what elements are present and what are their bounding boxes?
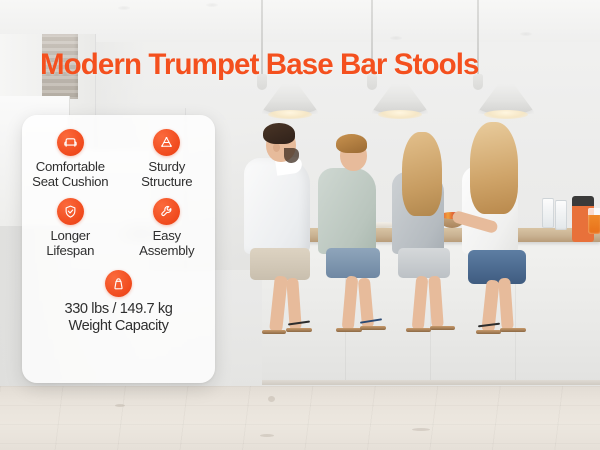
feature-label: Longer Lifespan [46, 229, 94, 258]
water-glass [542, 198, 554, 228]
feature-easy-assembly: Easy Assembly [119, 198, 216, 258]
beard [284, 148, 299, 163]
sandal [430, 326, 455, 330]
ceiling-fixture-dot [118, 6, 130, 10]
sandal [406, 328, 431, 332]
weight-icon [105, 270, 132, 297]
lamp-glow [484, 110, 528, 119]
ceiling-fixture-dot [390, 36, 402, 40]
feature-label: Comfortable Seat Cushion [32, 160, 108, 189]
hair [470, 122, 518, 214]
feature-weight-capacity: 330 lbs / 149.7 kg Weight Capacity [22, 270, 215, 333]
shield-check-icon [57, 198, 84, 225]
feature-label: Sturdy Structure [141, 160, 192, 189]
sandal [262, 330, 286, 334]
hair [263, 123, 295, 144]
counter-baseboard [262, 380, 600, 385]
triangle-structure-icon [153, 129, 180, 156]
sandal [500, 328, 526, 332]
lamp-glow [378, 110, 422, 119]
feature-grid: Comfortable Seat Cushion Sturdy Structur… [22, 129, 215, 334]
feature-sturdy-structure: Sturdy Structure [119, 129, 216, 189]
water-glass [555, 200, 567, 230]
wood-floor [0, 386, 600, 450]
ceiling-fixture-dot [206, 3, 218, 7]
shorts [398, 248, 450, 278]
juice-glass [588, 208, 600, 234]
armchair-icon [57, 129, 84, 156]
feature-label: 330 lbs / 149.7 kg Weight Capacity [64, 301, 172, 333]
wrench-icon [153, 198, 180, 225]
floor-grain [412, 428, 430, 431]
floor-grain [115, 404, 125, 407]
feature-label: Easy Assembly [139, 229, 194, 258]
hair [336, 134, 367, 153]
floor-grain [260, 434, 274, 437]
hair [402, 132, 442, 216]
ear [273, 143, 280, 152]
sandal [476, 330, 501, 334]
torso [318, 168, 376, 254]
flip-flop [360, 326, 386, 330]
feature-comfortable-seat-cushion: Comfortable Seat Cushion [22, 129, 119, 189]
feature-longer-lifespan: Longer Lifespan [22, 198, 119, 258]
flip-flop [336, 328, 362, 332]
sandal [286, 328, 312, 332]
floor-grain [268, 396, 275, 402]
shorts [326, 248, 380, 278]
product-marketing-image: Modern Trumpet Base Bar Stools Comfortab… [0, 0, 600, 450]
ceiling-fixture-dot [520, 32, 532, 36]
lamp-glow [268, 110, 312, 119]
jeans [468, 250, 526, 284]
page-title: Modern Trumpet Base Bar Stools [40, 48, 580, 82]
feature-card: Comfortable Seat Cushion Sturdy Structur… [22, 115, 215, 383]
